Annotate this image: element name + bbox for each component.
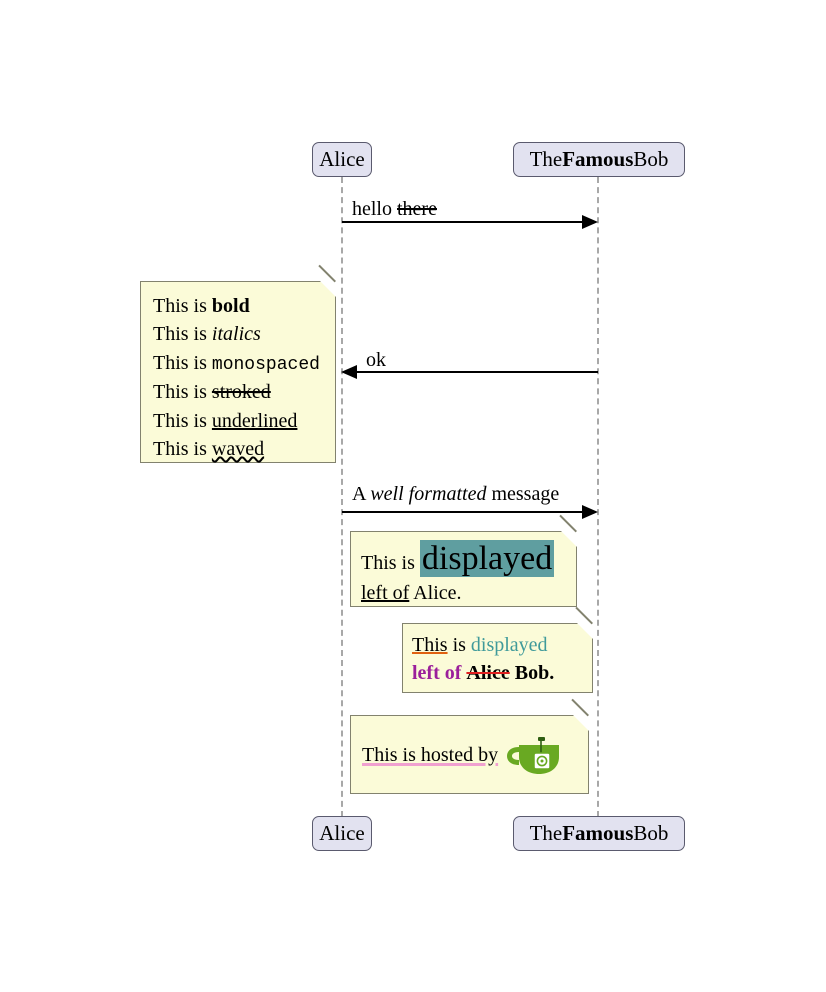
note-colored-line2: left of Alice Bob. [412, 659, 582, 687]
note-fold-line-icon [319, 265, 336, 282]
lifeline-alice [341, 177, 343, 817]
participant-alice-bottom[interactable]: Alice [312, 816, 372, 851]
note-line-waved-value: waved [212, 438, 264, 460]
note-line-monospaced: This is monospaced [153, 349, 322, 379]
note-fold-line-icon [560, 515, 577, 532]
participant-bob-bottom[interactable]: The Famous Bob [513, 816, 685, 851]
note-line-underlined-value: underlined [212, 410, 298, 432]
note-line-italics: This is italics [153, 320, 322, 348]
note-line-bold-value: bold [212, 295, 250, 317]
participant-alice-top[interactable]: Alice [312, 142, 372, 177]
note-displayed-highlight: displayed [420, 540, 554, 577]
note-displayed[interactable]: This is displayed left of Alice. [350, 531, 577, 607]
message-label-ok: ok [366, 350, 386, 370]
arrowhead-hello [582, 215, 598, 229]
note-colored-alice-struck: Alice [466, 662, 509, 684]
participant-bob-label-bold: Famous [562, 823, 633, 844]
note-line-underlined-prefix: This is [153, 410, 212, 432]
message-arrow-ok[interactable] [356, 371, 598, 373]
message-formatted-prefix: A [352, 483, 370, 505]
note-fold-line-icon [572, 699, 589, 716]
note-line-italics-prefix: This is [153, 323, 212, 345]
participant-bob-label-suffix: Bob [633, 823, 668, 844]
participant-bob-top[interactable]: The Famous Bob [513, 142, 685, 177]
message-arrow-hello[interactable] [342, 221, 590, 223]
message-hello-strike: there [397, 198, 437, 220]
message-label-hello: hello there [352, 199, 437, 219]
note-hosted-by-body: This is hosted by [351, 716, 588, 787]
note-displayed-body: This is displayed left of Alice. [351, 532, 576, 614]
sequence-diagram-canvas: Alice The Famous Bob hello there This is… [0, 0, 826, 992]
note-displayed-prefix: This is [361, 552, 420, 574]
message-formatted-suffix: message [486, 483, 559, 505]
note-line-monospaced-prefix: This is [153, 352, 212, 374]
note-line-stroked: This is stroked [153, 378, 322, 406]
note-colored-line1: This is displayed [412, 631, 582, 659]
note-line-italics-value: italics [212, 323, 261, 345]
lifeline-bob [597, 177, 599, 817]
note-line-stroked-prefix: This is [153, 381, 212, 403]
message-ok-text: ok [366, 349, 386, 371]
note-colored-body: This is displayed left of Alice Bob. [403, 624, 592, 695]
note-colored-displayed: displayed [471, 634, 548, 656]
participant-bob-label-prefix: The [530, 823, 563, 844]
note-line-waved-prefix: This is [153, 438, 212, 460]
note-hosted-by[interactable]: This is hosted by [350, 715, 589, 794]
note-formatting-styles-body: This is bold This is italics This is mon… [141, 282, 335, 474]
note-displayed-line2: left of Alice. [361, 581, 564, 606]
note-formatting-styles[interactable]: This is bold This is italics This is mon… [140, 281, 336, 463]
participant-bob-label-bold: Famous [562, 149, 633, 170]
note-hosted-row: This is hosted by [362, 734, 576, 777]
note-hosted-text: This is hosted by [362, 741, 498, 769]
note-displayed-underlined: left of [361, 582, 409, 604]
note-colored-bob: Bob. [515, 662, 554, 684]
tea-cup-logo-icon [507, 734, 563, 777]
participant-bob-label-suffix: Bob [633, 149, 668, 170]
note-line-monospaced-value: monospaced [212, 355, 320, 375]
note-displayed-suffix: Alice. [409, 582, 461, 604]
note-line-waved: This is waved [153, 435, 322, 463]
arrowhead-formatted [582, 505, 598, 519]
message-formatted-italic: well formatted [370, 483, 486, 505]
message-arrow-formatted[interactable] [342, 511, 590, 513]
note-colored-this: This [412, 634, 448, 656]
arrowhead-ok [341, 365, 357, 379]
participant-alice-label: Alice [319, 823, 364, 844]
note-colored-is: is [448, 634, 471, 656]
note-line-bold-prefix: This is [153, 295, 212, 317]
note-colored[interactable]: This is displayed left of Alice Bob. [402, 623, 593, 693]
participant-alice-label: Alice [319, 149, 364, 170]
note-line-underlined: This is underlined [153, 407, 322, 435]
note-colored-leftof: left of [412, 662, 461, 684]
note-line-stroked-value: stroked [212, 381, 271, 403]
message-hello-text: hello [352, 198, 397, 220]
participant-bob-label-prefix: The [530, 149, 563, 170]
note-line-bold: This is bold [153, 292, 322, 320]
note-displayed-line1: This is displayed [361, 538, 564, 581]
message-label-formatted: A well formatted message [352, 484, 559, 504]
note-fold-line-icon [576, 607, 593, 624]
